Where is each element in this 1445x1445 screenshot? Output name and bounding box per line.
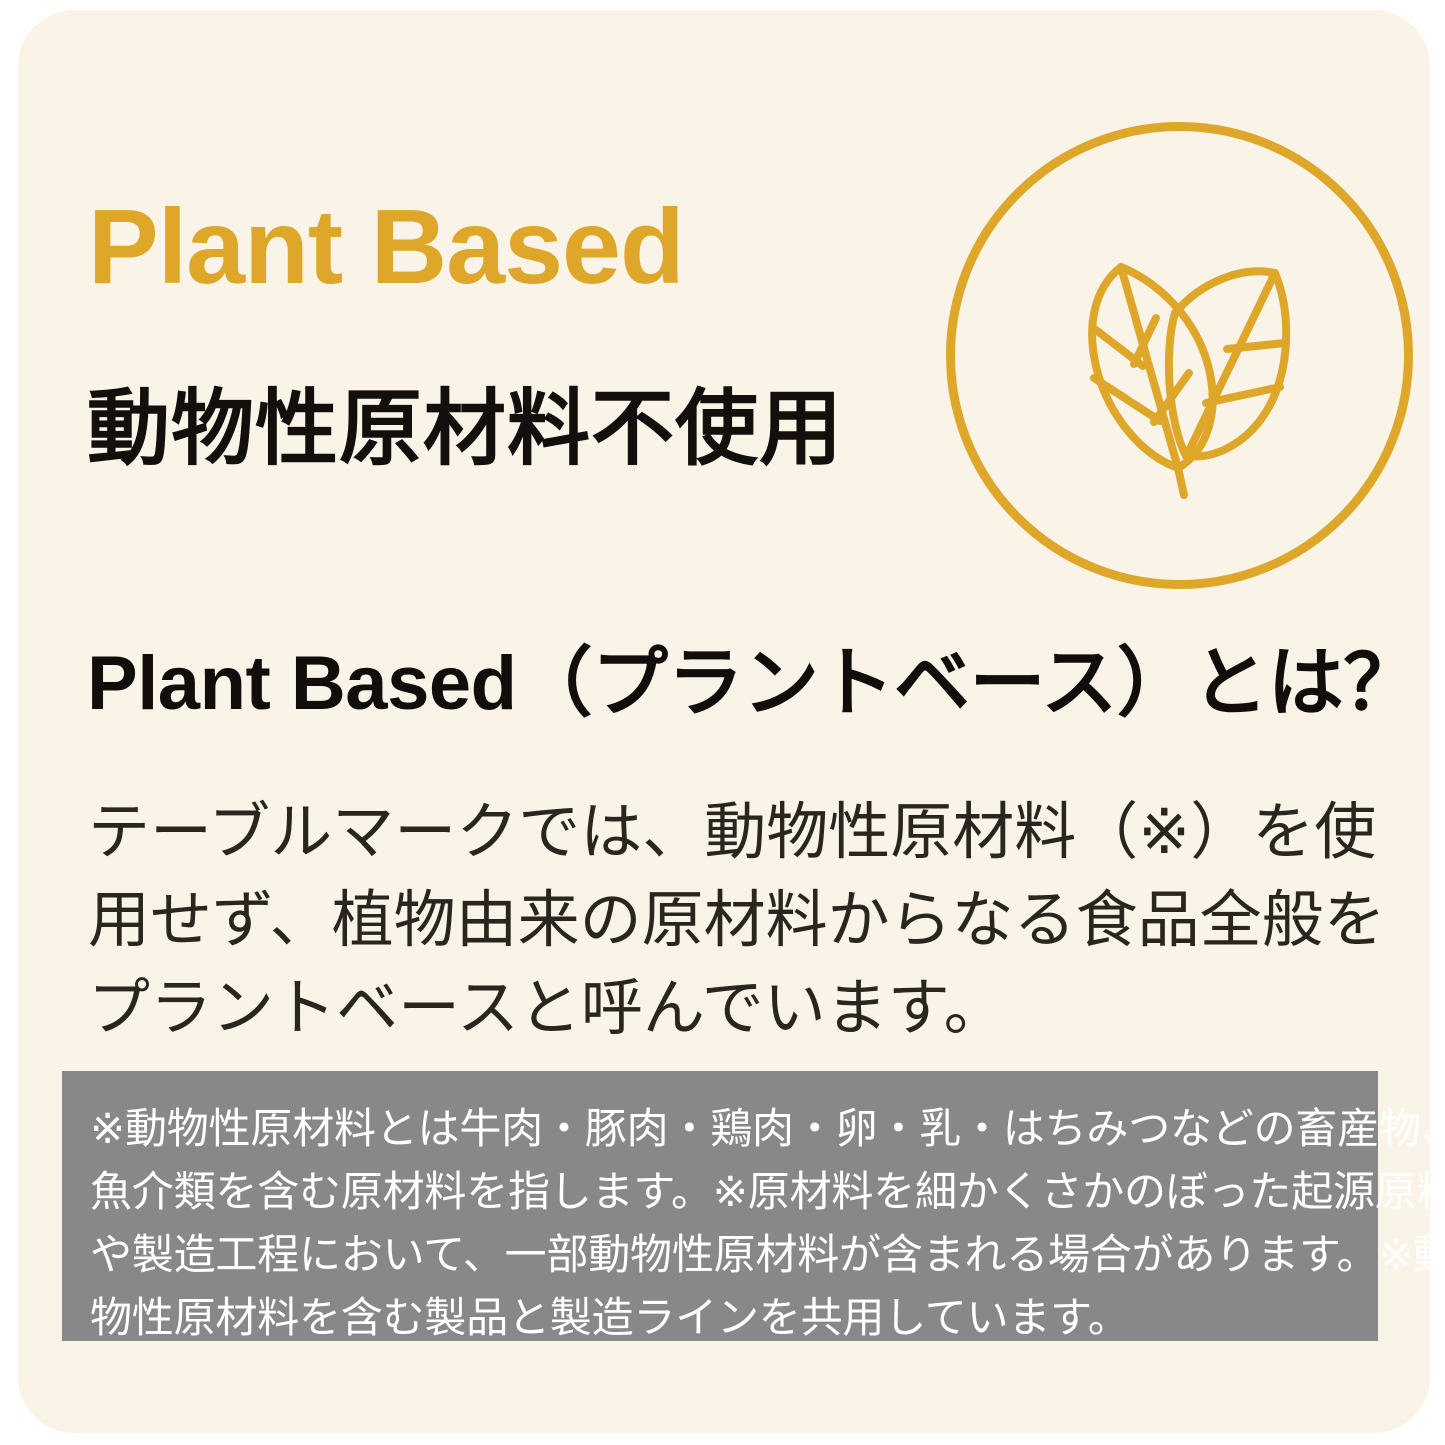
plant-based-card: Plant Based 動物性原材料不使用 — [18, 10, 1430, 1433]
card-header: Plant Based 動物性原材料不使用 — [18, 10, 1430, 610]
page-title: Plant Based — [88, 192, 684, 303]
body-line: テーブルマークでは、動物性原材料（※）を使 — [88, 789, 1388, 877]
footnote-line: 物性原材料を含む製品と製造ラインを共用しています。 — [90, 1286, 1348, 1349]
footnote-line: ※動物性原材料とは牛肉・豚肉・鶏肉・卵・乳・はちみつなどの畜産物、 — [90, 1097, 1348, 1160]
footnote-line: や製造工程において、一部動物性原材料が含まれる場合があります。※動 — [90, 1223, 1348, 1286]
footnote-text: ※動物性原材料とは牛肉・豚肉・鶏肉・卵・乳・はちみつなどの畜産物、 魚介類を含む… — [90, 1097, 1348, 1349]
body-line: プラントベースと呼んでいます。 — [88, 965, 1388, 1053]
page-subtitle: 動物性原材料不使用 — [87, 383, 843, 474]
footnote-line: 魚介類を含む原材料を指します。※原材料を細かくさかのぼった起源原料 — [90, 1160, 1348, 1223]
body-line: 用せず、植物由来の原材料からなる食品全般を — [88, 877, 1388, 965]
badge-circle — [951, 127, 1409, 585]
footnote-box: ※動物性原材料とは牛肉・豚肉・鶏肉・卵・乳・はちみつなどの畜産物、 魚介類を含む… — [62, 1071, 1378, 1341]
leaf-badge — [946, 122, 1413, 589]
body-paragraph: テーブルマークでは、動物性原材料（※）を使 用せず、植物由来の原材料からなる食品… — [88, 789, 1388, 1053]
leaf-icon — [946, 122, 1413, 589]
section-heading: Plant Based（プラントベース）とは？ — [87, 640, 1419, 727]
leaf-glyph — [1092, 267, 1286, 495]
